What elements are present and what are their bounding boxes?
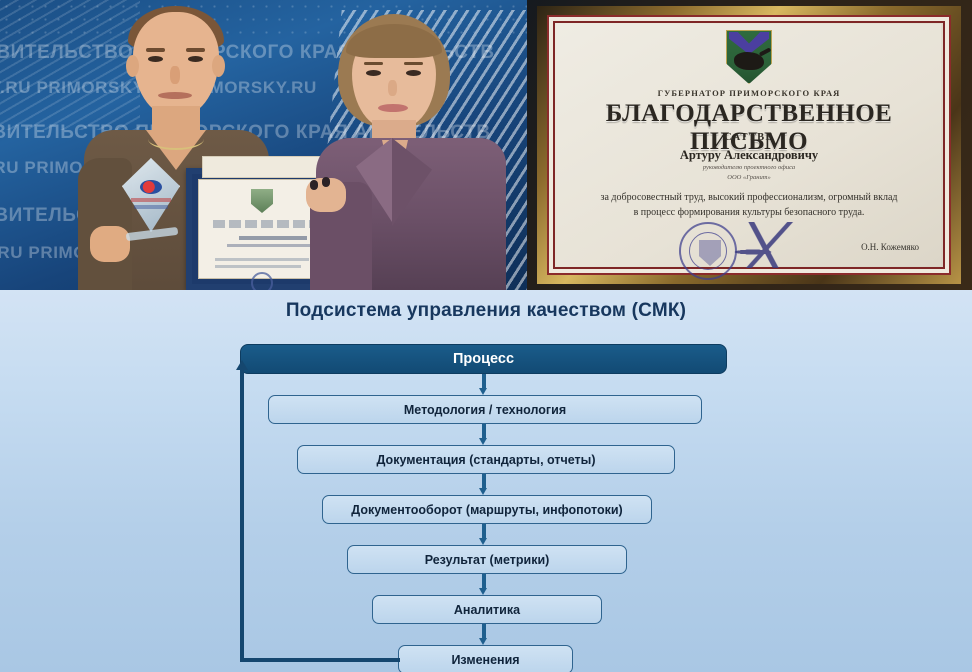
screenshot-root: АВИТЕЛЬСТВО ПРИМОРСКОГО КРАЯ АВИТЕЛЬСТВ … <box>0 0 972 672</box>
trophy-logo <box>140 180 162 194</box>
certificate-signer-name: О.Н. Кожемяко <box>861 242 919 252</box>
certificate-signature <box>729 222 803 268</box>
diploma-crest-icon <box>251 189 273 213</box>
flow-node-documentation[interactable]: Документация (стандарты, отчеты) <box>297 445 675 474</box>
flow-node-process[interactable]: Процесс <box>240 344 727 374</box>
woman-brow-left <box>364 62 383 65</box>
flow-arrow-6 <box>479 624 488 645</box>
certificate-recipient-name: Артуру Александровичу <box>557 148 941 163</box>
man-necklace <box>148 128 204 150</box>
diploma-text-line-4 <box>215 265 301 268</box>
woman-eye-right <box>406 70 421 76</box>
flow-node-changes[interactable]: Изменения <box>398 645 573 672</box>
flow-arrow-1 <box>479 374 488 395</box>
certificate-organization: ООО «Гранит» <box>557 174 941 181</box>
trophy-text-line-1 <box>131 198 171 202</box>
flow-node-document-flow[interactable]: Документооборот (маршруты, инфопотоки) <box>322 495 652 524</box>
flow-arrow-5 <box>479 574 488 595</box>
trophy-glass-body <box>122 158 180 232</box>
certificate-photo: ГУБЕРНАТОР ПРИМОРСКОГО КРАЯ БЛАГОДАРСТВЕ… <box>527 0 972 290</box>
photo-strip: АВИТЕЛЬСТВО ПРИМОРСКОГО КРАЯ АВИТЕЛЬСТВ … <box>0 0 972 290</box>
award-ceremony-photo: АВИТЕЛЬСТВО ПРИМОРСКОГО КРАЯ АВИТЕЛЬСТВ … <box>0 0 527 290</box>
man-ear-right <box>212 55 225 77</box>
man-brow-right <box>186 48 205 52</box>
feedback-loop-vertical <box>240 370 244 662</box>
quality-management-diagram: Подсистема управления качеством (СМК) Пр… <box>0 290 972 672</box>
diagram-title: Подсистема управления качеством (СМК) <box>0 300 972 322</box>
man-nose <box>170 66 180 84</box>
flow-node-result[interactable]: Результат (метрики) <box>347 545 627 574</box>
woman-lips <box>378 104 408 112</box>
certificate-position: руководителю проектного офиса <box>557 164 941 171</box>
primorsky-crest-icon <box>726 30 772 84</box>
flow-arrow-2 <box>479 424 488 445</box>
certificate-body-line-1: за добросовестный труд, высокий професси… <box>565 192 933 203</box>
certificate-document: ГУБЕРНАТОР ПРИМОРСКОГО КРАЯ БЛАГОДАРСТВЕ… <box>557 24 941 266</box>
trophy-text-line-2 <box>134 205 168 209</box>
woman-nose <box>388 80 397 96</box>
feedback-loop-arrowhead <box>236 360 248 370</box>
diploma-text-line-3 <box>215 258 309 261</box>
certificate-body-line-2: в процесс формирования культуры безопасн… <box>565 207 933 218</box>
man-mouth <box>158 92 192 99</box>
trophy-base <box>126 227 179 241</box>
man-eye-left <box>148 56 163 62</box>
certificate-seal-crest <box>699 240 721 266</box>
diploma-text-line-1 <box>239 236 307 240</box>
diploma-title-line <box>213 220 311 228</box>
flow-node-methodology[interactable]: Методология / технология <box>268 395 702 424</box>
certificate-surname: САТТВЕ <box>557 132 941 143</box>
man-head <box>133 12 219 116</box>
diploma-seal-icon <box>251 272 273 290</box>
glass-trophy <box>118 158 184 260</box>
flow-arrow-3 <box>479 474 488 495</box>
flow-node-analytics[interactable]: Аналитика <box>372 595 602 624</box>
woman-eye-left <box>366 70 381 76</box>
man-eye-right <box>188 56 203 62</box>
man-ear-left <box>126 55 139 77</box>
woman-nail-1 <box>310 180 318 190</box>
flow-arrow-4 <box>479 524 488 545</box>
woman-official <box>300 14 515 290</box>
woman-brow-right <box>404 62 423 65</box>
woman-nail-2 <box>322 177 330 187</box>
certificate-governor-line: ГУБЕРНАТОР ПРИМОРСКОГО КРАЯ <box>557 88 941 98</box>
man-brow-left <box>146 48 165 52</box>
feedback-loop-horizontal <box>240 658 400 662</box>
